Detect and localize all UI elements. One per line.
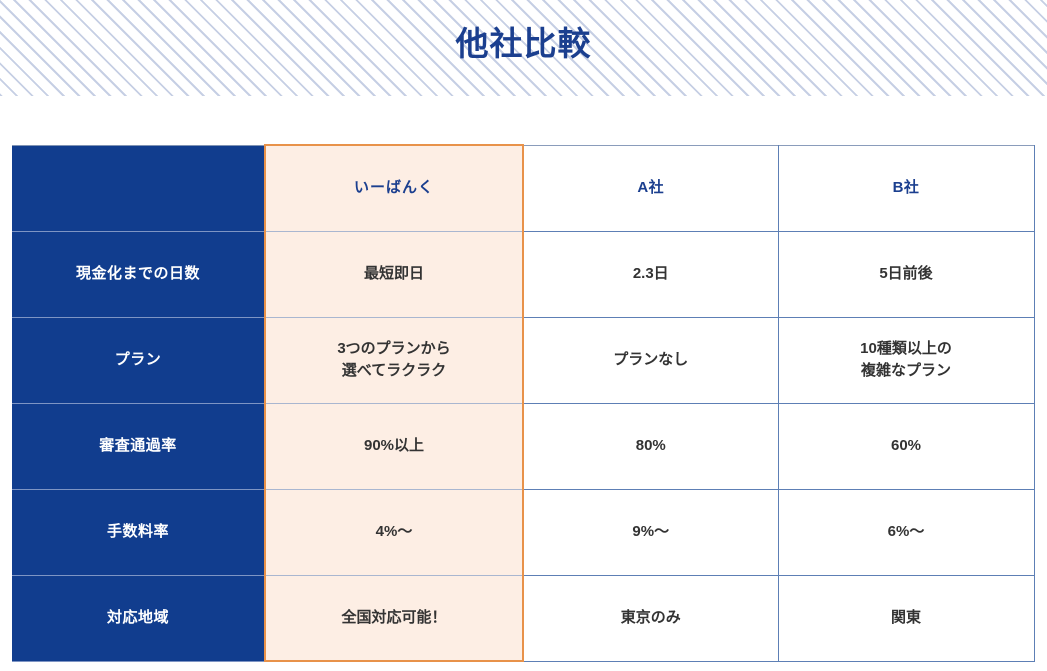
cell-company-a-value: 9%〜 [523,489,778,575]
cell-company-b-value: 5日前後 [778,231,1034,317]
column-header-own: いーばんく [265,145,523,231]
cell-own-value: 全国対応可能！ [265,575,523,661]
cell-text-line: 4%〜 [272,521,516,543]
cell-company-a-value: 80% [523,403,778,489]
table-header: いーばんく A社 B社 [12,145,1034,231]
cell-own-value: 90%以上 [265,403,523,489]
cell-text-line: 最短即日 [272,263,516,285]
cell-text-line: 全国対応可能！ [272,607,516,629]
cell-text-line: 2.3日 [530,263,772,285]
row-label: 現金化までの日数 [12,231,265,317]
column-header-company-b: B社 [778,145,1034,231]
table-header-row: いーばんく A社 B社 [12,145,1034,231]
cell-company-a-value: 東京のみ [523,575,778,661]
cell-company-a-value: プランなし [523,317,778,403]
cell-text-line: 5日前後 [785,263,1028,285]
table-row: 現金化までの日数最短即日2.3日5日前後 [12,231,1034,317]
cell-text-line: プランなし [530,349,772,371]
column-header-company-a: A社 [523,145,778,231]
cell-text-line: 関東 [785,607,1028,629]
header-banner: 他社比較 [0,0,1047,96]
cell-company-b-value: 6%〜 [778,489,1034,575]
cell-text-line: 10種類以上の [785,338,1028,360]
cell-text-line: 9%〜 [530,521,772,543]
cell-own-value: 4%〜 [265,489,523,575]
comparison-table: いーばんく A社 B社 現金化までの日数最短即日2.3日5日前後プラン3つのプラ… [12,144,1035,662]
cell-text-line: 6%〜 [785,521,1028,543]
table-body: 現金化までの日数最短即日2.3日5日前後プラン3つのプランから選べてラクラクプラ… [12,231,1034,661]
cell-company-b-value: 60% [778,403,1034,489]
table-corner-cell [12,145,265,231]
table-row: 対応地域全国対応可能！東京のみ関東 [12,575,1034,661]
cell-text-line: 3つのプランから [272,338,516,360]
cell-text-line: 東京のみ [530,607,772,629]
cell-own-value: 最短即日 [265,231,523,317]
cell-text-line: 90%以上 [272,435,516,457]
cell-company-b-value: 10種類以上の複雑なプラン [778,317,1034,403]
cell-company-a-value: 2.3日 [523,231,778,317]
cell-text-line: 複雑なプラン [785,360,1028,382]
cell-text-line: 選べてラクラク [272,360,516,382]
row-label: 手数料率 [12,489,265,575]
table-row: 手数料率4%〜9%〜6%〜 [12,489,1034,575]
row-label: 審査通過率 [12,403,265,489]
page-title: 他社比較 [0,0,1047,96]
cell-company-b-value: 関東 [778,575,1034,661]
cell-text-line: 60% [785,435,1028,457]
cell-own-value: 3つのプランから選べてラクラク [265,317,523,403]
row-label: 対応地域 [12,575,265,661]
cell-text-line: 80% [530,435,772,457]
row-label: プラン [12,317,265,403]
table-row: プラン3つのプランから選べてラクラクプランなし10種類以上の複雑なプラン [12,317,1034,403]
table-row: 審査通過率90%以上80%60% [12,403,1034,489]
